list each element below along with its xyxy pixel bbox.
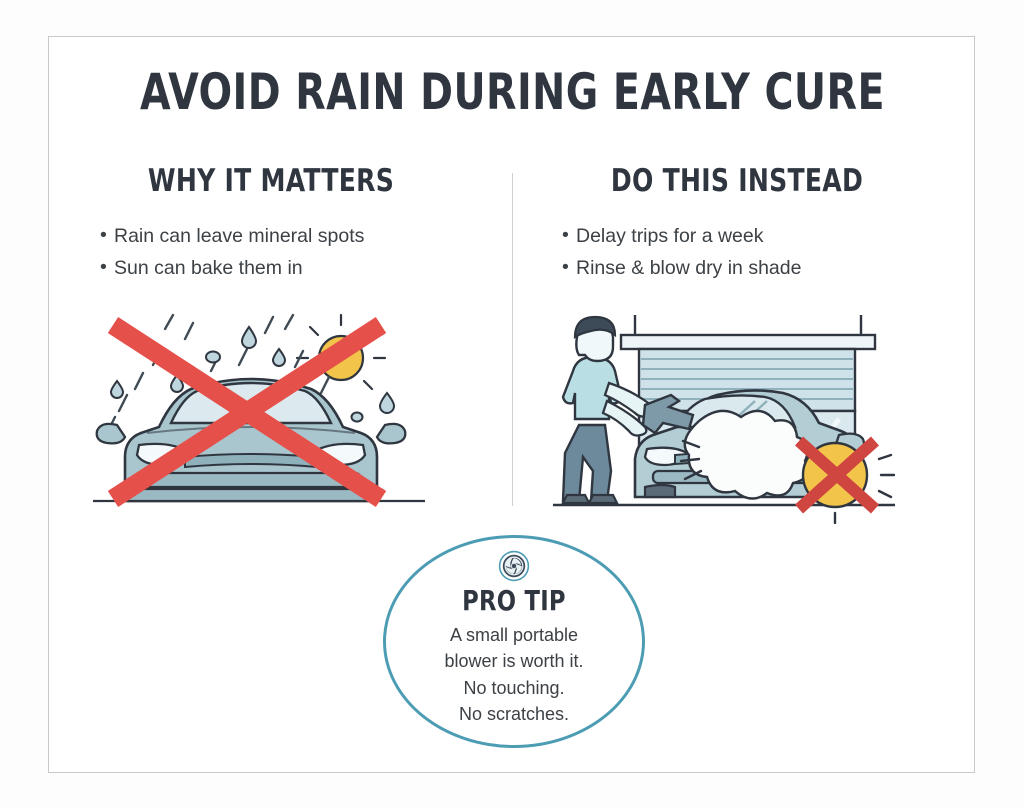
column-why-it-matters: WHY IT MATTERS Rain can leave mineral sp… [61, 163, 481, 284]
page-title: AVOID RAIN DURING EARLY CURE [105, 63, 921, 121]
column-heading-left: WHY IT MATTERS [82, 163, 460, 199]
column-heading-right: DO THIS INSTEAD [548, 163, 926, 199]
bullet-list-right: Delay trips for a week Rinse & blow dry … [562, 221, 947, 284]
list-item: Sun can bake them in [100, 253, 481, 285]
car-in-rain-svg [89, 309, 429, 524]
bullet-list-left: Rain can leave mineral spots Sun can bak… [100, 221, 481, 284]
illustration-car-in-rain [89, 309, 429, 529]
list-item: Rinse & blow dry in shade [562, 253, 947, 285]
pro-tip-line: No scratches. [386, 701, 642, 727]
column-divider [512, 173, 513, 506]
pro-tip-line: No touching. [386, 675, 642, 701]
fan-aperture-icon [498, 550, 530, 582]
pro-tip-callout: PRO TIP A small portable blower is worth… [383, 535, 645, 748]
pro-tip-line: A small portable [386, 622, 642, 648]
list-item: Rain can leave mineral spots [100, 221, 481, 253]
list-item: Delay trips for a week [562, 221, 947, 253]
illustration-blow-dry-in-shade [549, 309, 899, 529]
pro-tip-heading: PRO TIP [399, 584, 629, 617]
column-do-this-instead: DO THIS INSTEAD Delay trips for a week R… [527, 163, 947, 284]
pro-tip-line: blower is worth it. [386, 648, 642, 674]
no-sun-icon [799, 441, 894, 523]
infographic-poster: AVOID RAIN DURING EARLY CURE WHY IT MATT… [0, 0, 1024, 808]
blow-dry-garage-svg [549, 309, 899, 524]
pro-tip-body: A small portable blower is worth it. No … [386, 622, 642, 727]
poster-frame: AVOID RAIN DURING EARLY CURE WHY IT MATT… [48, 36, 975, 773]
